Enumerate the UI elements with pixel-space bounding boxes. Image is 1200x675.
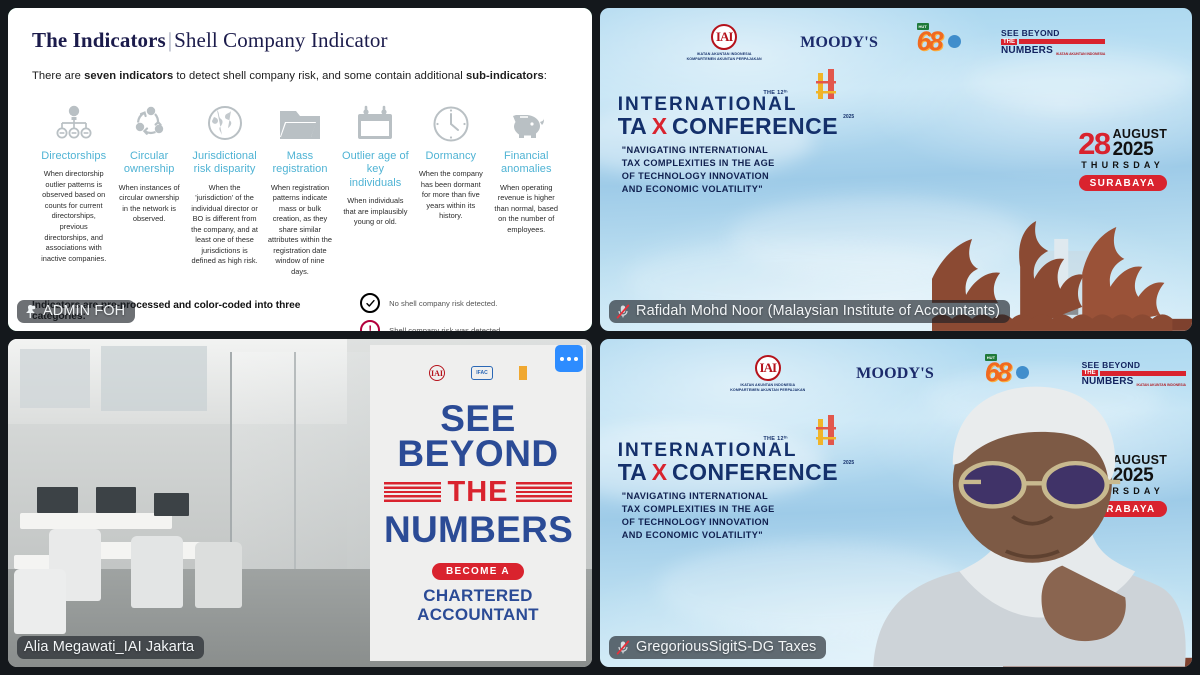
conference-edition: THE 12ᵗʰ	[763, 436, 787, 442]
conference-date-block: 28 AUGUST 2025 THURSDAY SURABAYA	[1078, 128, 1167, 192]
indicator-description: When the 'jurisdiction' of the individua…	[191, 183, 258, 267]
anniversary-tag: HUT	[917, 23, 929, 30]
participant-name-bar: Rafidah Mohd Noor (Malaysian Institute o…	[609, 300, 1010, 323]
conference-tax: TA	[618, 461, 647, 484]
conference-virtual-background: IAI IKATAN AKUNTAN INDONESIA KOMPARTEMEN…	[600, 8, 1192, 331]
slide-intro-text: There are seven indicators to detect she…	[32, 70, 570, 82]
indicator-outlier-age: Outlier age of key individuals When indi…	[338, 95, 413, 277]
conference-year-sup: 2025	[843, 461, 854, 466]
conference-title-block: THE 12ᵗʰ INTERNATIONAL TAX CONFERENCE 20…	[618, 95, 973, 196]
video-tile-gregorious[interactable]: IAI IKATAN AKUNTAN INDONESIA KOMPARTEMEN…	[600, 339, 1192, 667]
circular-arrows-icon	[115, 95, 182, 143]
lede-a: There are	[32, 70, 84, 82]
indicator-description: When individuals that are implausibly yo…	[342, 196, 409, 228]
folder-icon	[266, 95, 333, 143]
monument-icon	[810, 415, 842, 455]
poster-logos: IAI IFAC	[384, 365, 572, 381]
legend-text: Shell company risk was detected.	[389, 326, 502, 331]
conference-line1: INTERNATIONAL	[618, 95, 973, 114]
iai-mark: IAI	[711, 24, 737, 50]
indicator-mass-registration: Mass registration When registration patt…	[262, 95, 337, 277]
poster-iai-logo: IAI	[429, 365, 445, 381]
pin-icon	[24, 304, 37, 319]
date-weekday: THURSDAY	[1078, 160, 1167, 170]
indicator-label: Directorships	[40, 150, 107, 163]
calendar-icon	[342, 95, 409, 143]
slide-title: The Indicators|Shell Company Indicator	[32, 28, 570, 53]
sbn-the: THE	[1001, 39, 1017, 45]
chartered-accountant-poster: IAI IFAC SEE BEYOND THE NUMBERS BECOME A…	[370, 345, 586, 661]
legend-list: No shell company risk detected. ! Shell …	[360, 293, 570, 331]
sbn-bar	[1100, 371, 1186, 376]
clock-icon	[417, 95, 484, 143]
conference-tax: TA	[618, 115, 647, 138]
check-circle-icon	[360, 293, 380, 313]
participant-name-bar: GregoriousSigitS-DG Taxes	[609, 636, 826, 659]
indicator-description: When operating revenue is higher than no…	[493, 183, 560, 236]
date-day-number: 28	[1078, 130, 1109, 157]
conference-x: X	[652, 461, 667, 484]
conference-line2: TAX CONFERENCE 2025	[618, 115, 973, 138]
indicator-label: Circular ownership	[115, 150, 182, 177]
poster-partner-logo	[519, 366, 527, 380]
anniversary-number: 68	[917, 26, 941, 56]
presentation-slide: The Indicators|Shell Company Indicator T…	[8, 8, 592, 331]
indicator-circular-ownership: Circular ownership When instances of cir…	[111, 95, 186, 277]
conference-year-sup: 2025	[843, 115, 854, 120]
participant-name-bar: ADMIN FOH	[17, 300, 135, 323]
participant-name-bar: Alia Megawati_IAI Jakarta	[17, 636, 204, 659]
legend-item-no-risk: No shell company risk detected.	[360, 293, 570, 313]
participant-name: Rafidah Mohd Noor (Malaysian Institute o…	[636, 303, 1000, 319]
anniversary-tag: HUT	[985, 354, 997, 361]
iai-logo: IAI IKATAN AKUNTAN INDONESIA KOMPARTEMEN…	[687, 24, 762, 61]
date-year: 2025	[1113, 140, 1168, 159]
sbn-bar	[1019, 39, 1105, 44]
participant-name: ADMIN FOH	[43, 303, 125, 319]
video-tile-rafidah[interactable]: IAI IKATAN AKUNTAN INDONESIA KOMPARTEMEN…	[600, 8, 1192, 331]
conference-word: CONFERENCE	[672, 461, 838, 484]
sbn-line3: NUMBERS	[1001, 46, 1053, 56]
lede-e: :	[544, 70, 547, 82]
indicator-directorships: Directorships When directorship outlier …	[36, 95, 111, 277]
anniversary-dot	[1016, 366, 1029, 379]
sponsor-logos-bar: IAI IKATAN AKUNTAN INDONESIA KOMPARTEMEN…	[600, 24, 1192, 61]
indicator-label: Dormancy	[417, 150, 484, 163]
indicator-label: Outlier age of key individuals	[342, 150, 409, 190]
date-city-badge: SURABAYA	[1079, 175, 1167, 191]
participant-name: Alia Megawati_IAI Jakarta	[24, 639, 194, 655]
org-chart-icon	[40, 95, 107, 143]
indicator-description: When registration patterns indicate mass…	[266, 183, 333, 278]
theme-line-2: TAX COMPLEXITIES IN THE AGE	[622, 157, 973, 170]
lede-bold-sub-indicators: sub-indicators	[466, 70, 544, 82]
slide-title-separator: |	[166, 28, 174, 52]
poster-line4: CHARTERED ACCOUNTANT	[384, 587, 572, 624]
conference-theme: "NAVIGATING INTERNATIONAL TAX COMPLEXITI…	[618, 144, 973, 196]
video-tile-alia[interactable]: IAI IFAC SEE BEYOND THE NUMBERS BECOME A…	[8, 339, 592, 667]
participant-name: GregoriousSigitS-DG Taxes	[636, 639, 816, 655]
indicator-description: When instances of circular ownership in …	[115, 183, 182, 225]
conference-edition: THE 12ᵗʰ	[763, 90, 787, 96]
see-beyond-numbers-logo: SEE BEYOND THE NUMBERSIKATAN AKUNTAN IND…	[1001, 29, 1105, 56]
lede-bold-seven-indicators: seven indicators	[84, 70, 173, 82]
iai-text-line1: IKATAN AKUNTAN INDONESIA	[687, 52, 762, 56]
poster-line2-wrap: THE	[384, 476, 572, 510]
slide-title-rest: Shell Company Indicator	[174, 28, 387, 52]
theme-line-3: OF TECHNOLOGY INNOVATION	[622, 170, 973, 183]
indicator-label: Mass registration	[266, 150, 333, 177]
conference-x: X	[652, 115, 667, 138]
sbn-line1: SEE BEYOND	[1082, 361, 1186, 370]
indicator-jurisdictional-risk-disparity: Jurisdictional risk disparity When the '…	[187, 95, 262, 277]
iai-text-line2: KOMPARTEMEN AKUNTAN PERPAJAKAN	[687, 57, 762, 61]
microphone-muted-icon	[616, 640, 630, 655]
indicator-description: When the company has been dormant for mo…	[417, 169, 484, 222]
iai-mark: IAI	[755, 355, 781, 381]
poster-accountant: ACCOUNTANT	[384, 606, 572, 624]
iai-logo: IAI IKATAN AKUNTAN INDONESIA KOMPARTEMEN…	[730, 355, 805, 392]
legend-text: No shell company risk detected.	[389, 299, 497, 308]
moodys-logo: MOODY'S	[800, 34, 878, 52]
poster-line3: NUMBERS	[384, 512, 572, 547]
conference-word: CONFERENCE	[672, 115, 838, 138]
anniversary-dot	[948, 35, 961, 48]
sbn-line1: SEE BEYOND	[1001, 29, 1105, 38]
piggy-bank-icon	[493, 95, 560, 143]
indicator-dormancy: Dormancy When the company has been dorma…	[413, 95, 488, 277]
legend-item-risk-detected: ! Shell company risk was detected.	[360, 320, 570, 331]
indicator-label: Jurisdictional risk disparity	[191, 150, 258, 177]
video-tile-screen-share[interactable]: The Indicators|Shell Company Indicator T…	[8, 8, 592, 331]
office-room-view: IAI IFAC SEE BEYOND THE NUMBERS BECOME A…	[8, 339, 592, 667]
theme-line-1: "NAVIGATING INTERNATIONAL	[622, 144, 973, 157]
indicator-description: When directorship outlier patterns is ob…	[40, 169, 107, 264]
theme-line-4: AND ECONOMIC VOLATILITY"	[622, 183, 973, 196]
video-gallery: The Indicators|Shell Company Indicator T…	[0, 0, 1200, 675]
indicator-financial-anomalies: Financial anomalies When operating reven…	[489, 95, 564, 277]
participant-video-person	[860, 378, 1192, 667]
poster-line2: THE	[441, 476, 516, 508]
poster-line1: SEE BEYOND	[384, 401, 572, 471]
slide-title-bold: The Indicators	[32, 28, 166, 52]
lede-c: to detect shell company risk, and some c…	[173, 70, 466, 82]
anniversary-68-logo: HUT 68	[917, 28, 963, 58]
globe-icon	[191, 95, 258, 143]
poster-chartered: CHARTERED	[384, 587, 572, 605]
poster-ifac-logo: IFAC	[471, 366, 493, 380]
conference-virtual-background: IAI IKATAN AKUNTAN INDONESIA KOMPARTEMEN…	[600, 339, 1192, 667]
iai-text-line2: KOMPARTEMEN AKUNTAN PERPAJAKAN	[730, 388, 805, 392]
poster-badge: BECOME A	[432, 563, 524, 580]
exclamation-circle-red-icon: !	[360, 320, 380, 331]
more-options-button[interactable]	[555, 345, 583, 372]
indicator-row: Directorships When directorship outlier …	[32, 95, 570, 277]
monument-icon	[810, 69, 842, 109]
indicator-label: Financial anomalies	[493, 150, 560, 177]
microphone-muted-icon	[616, 304, 630, 319]
sbn-line3-sub: IKATAN AKUNTAN INDONESIA	[1056, 52, 1105, 56]
